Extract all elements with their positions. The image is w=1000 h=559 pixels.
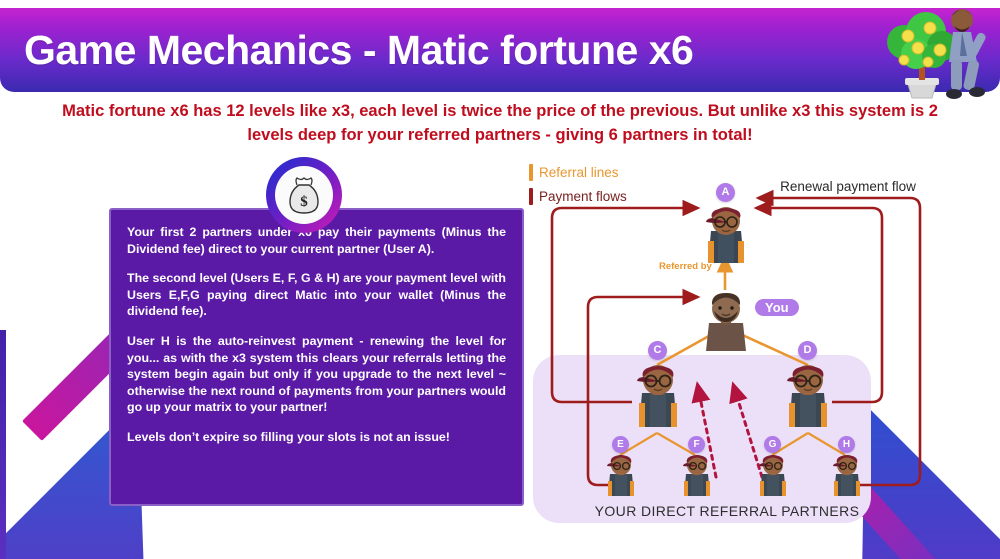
node-e-badge: E <box>612 436 629 453</box>
diagram-connections <box>520 155 1000 559</box>
subtitle-line-1: Matic fortune x6 has 12 levels like x3, … <box>62 102 844 120</box>
node-h-badge: H <box>838 436 855 453</box>
info-paragraph-4: Levels don’t expire so filling your slot… <box>127 429 506 446</box>
legend-item-payment-flows: Payment flows <box>529 188 627 205</box>
matrix-diagram: Referral lines Payment flows Renewal pay… <box>520 155 1000 559</box>
node-f-badge: F <box>688 436 705 453</box>
node-g-badge: G <box>764 436 781 453</box>
brand-logo: $ <box>266 157 342 233</box>
legend-swatch-payment <box>529 188 533 205</box>
svg-text:$: $ <box>300 194 308 210</box>
direct-referral-partners-label: YOUR DIRECT REFERRAL PARTNERS <box>582 503 872 519</box>
header-banner: Game Mechanics - Matic fortune x6 <box>0 8 1000 92</box>
node-you-badge: You <box>755 299 799 316</box>
renewal-payment-flow-label: Renewal payment flow <box>768 179 928 196</box>
page-title: Game Mechanics - Matic fortune x6 <box>24 27 693 74</box>
money-tree-character-icon <box>874 4 994 100</box>
legend-swatch-referral <box>529 164 533 181</box>
node-a-badge: A <box>716 183 735 202</box>
node-c-badge: C <box>648 341 667 360</box>
legend-label-referral: Referral lines <box>539 165 619 180</box>
info-panel: Your first 2 partners under x6 pay their… <box>109 208 524 506</box>
subtitle-text: Matic fortune x6 has 12 levels like x3, … <box>42 100 958 148</box>
info-paragraph-3: User H is the auto-reinvest payment - re… <box>127 333 506 416</box>
legend-label-payment: Payment flows <box>539 189 627 204</box>
legend-item-referral-lines: Referral lines <box>529 164 619 181</box>
info-paragraph-2: The second level (Users E, F, G & H) are… <box>127 270 506 320</box>
node-d-badge: D <box>798 341 817 360</box>
decor-left-bar <box>0 330 6 559</box>
money-bag-icon: $ <box>275 166 333 224</box>
